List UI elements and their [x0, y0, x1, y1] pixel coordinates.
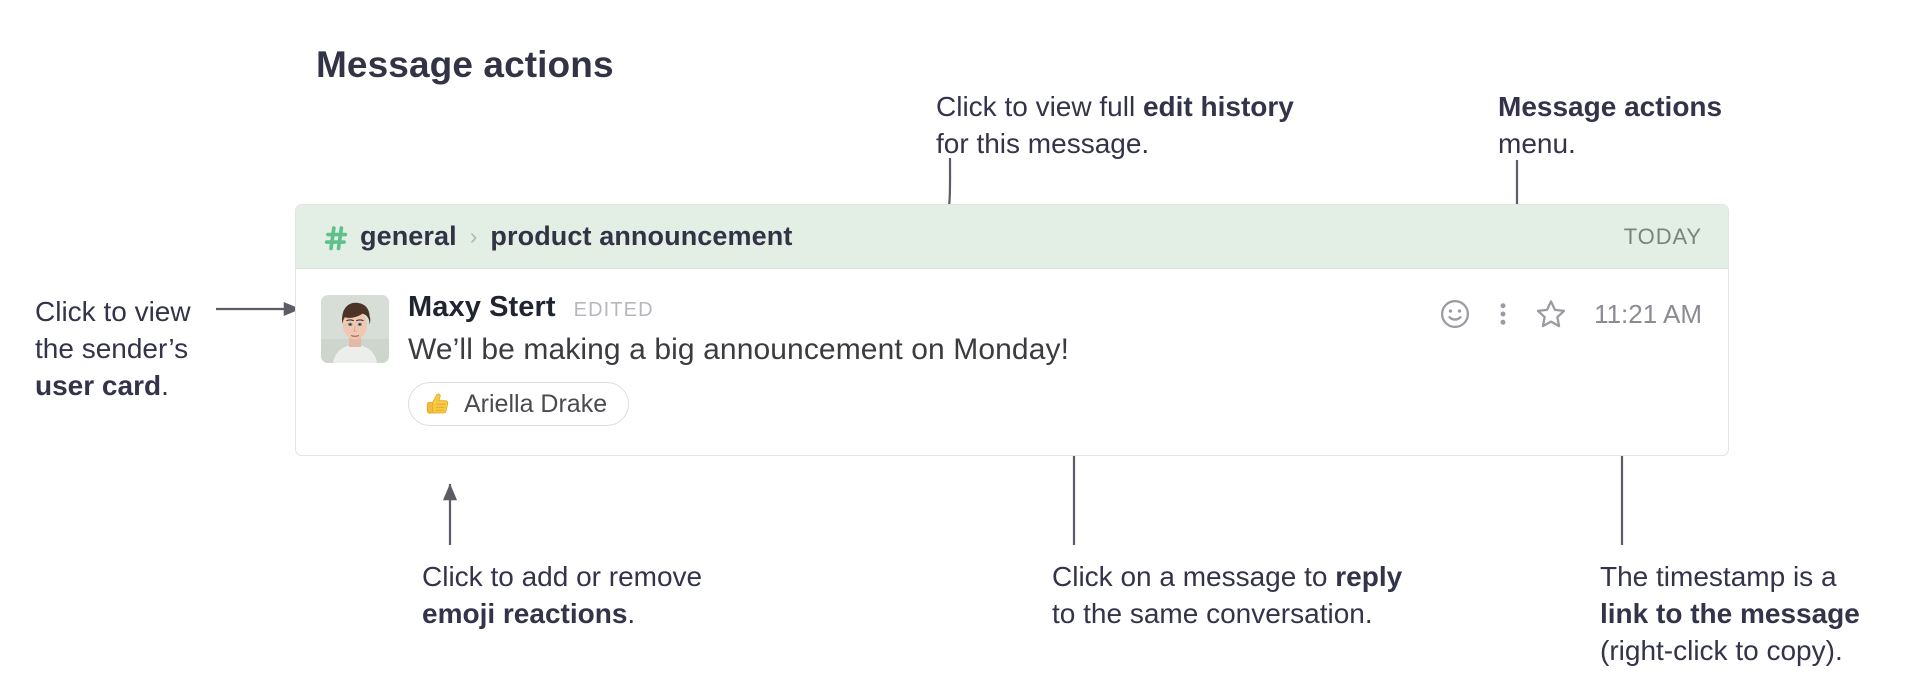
reaction-pill[interactable]: Ariella Drake — [408, 382, 629, 426]
message-text[interactable]: We’ll be making a big announcement on Mo… — [408, 333, 1702, 367]
hash-icon — [321, 223, 351, 253]
reaction-user-name: Ariella Drake — [464, 390, 607, 419]
message-card: general › product announcement TODAY — [295, 204, 1729, 456]
card-body: Maxy Stert EDITED We’ll be making a big … — [296, 269, 1728, 426]
breadcrumb-topic-name[interactable]: product announcement — [490, 221, 792, 252]
card-header: general › product announcement TODAY — [296, 205, 1728, 269]
message-actions-menu-icon[interactable] — [1494, 297, 1512, 331]
avatar[interactable] — [321, 295, 389, 363]
edited-label[interactable]: EDITED — [574, 299, 654, 322]
breadcrumb-stream-name[interactable]: general — [360, 221, 457, 252]
message-actions-cluster: 11:21 AM — [1438, 297, 1702, 331]
message-timestamp[interactable]: 11:21 AM — [1594, 299, 1702, 330]
star-icon[interactable] — [1534, 297, 1568, 331]
illustration-canvas: Message actions Click to view full edit … — [0, 0, 1924, 696]
thumbs-up-emoji — [424, 390, 452, 418]
date-label: TODAY — [1624, 224, 1702, 250]
sender-name[interactable]: Maxy Stert — [408, 291, 556, 324]
chevron-right-icon: › — [470, 225, 478, 248]
emoji-reaction-icon[interactable] — [1438, 297, 1472, 331]
